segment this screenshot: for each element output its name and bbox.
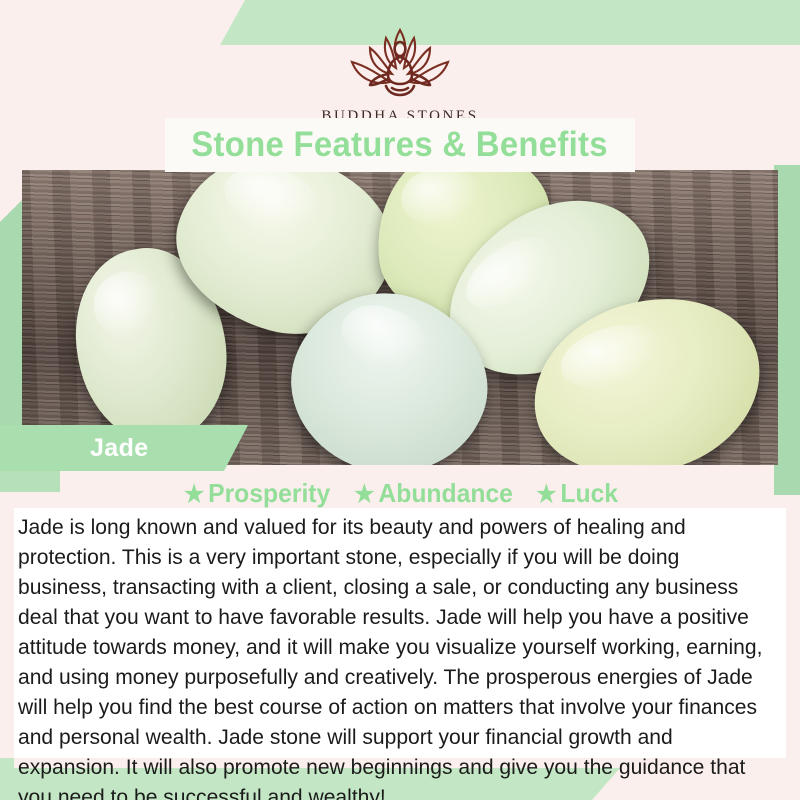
star-icon: ★: [536, 481, 556, 508]
brand-logo: BUDDHA STONES: [0, 22, 800, 125]
benefit-item-abundance: ★Abundance: [355, 478, 514, 509]
benefit-item-prosperity: ★Prosperity: [184, 478, 330, 509]
benefit-label: Abundance: [379, 478, 513, 508]
description-text: Jade is long known and valued for its be…: [18, 512, 771, 800]
benefit-item-luck: ★Luck: [536, 478, 618, 509]
benefits-row: ★Prosperity ★Abundance ★Luck: [0, 478, 800, 509]
stone-name-label: Jade: [0, 425, 248, 471]
lotus-meditation-icon: [326, 22, 474, 104]
benefit-label: Luck: [560, 478, 618, 508]
benefit-label: Prosperity: [208, 478, 330, 508]
stone-info-card: BUDDHA STONES Stone Features & Benefits …: [0, 0, 800, 800]
star-icon: ★: [355, 481, 375, 508]
stone-photo: [22, 170, 778, 465]
decor-bottom-left-green-sliver: [0, 758, 14, 772]
page-title: Stone Features & Benefits: [192, 125, 609, 165]
stone-name-text: Jade: [90, 434, 149, 463]
title-banner: Stone Features & Benefits: [165, 118, 635, 172]
star-icon: ★: [184, 481, 204, 508]
